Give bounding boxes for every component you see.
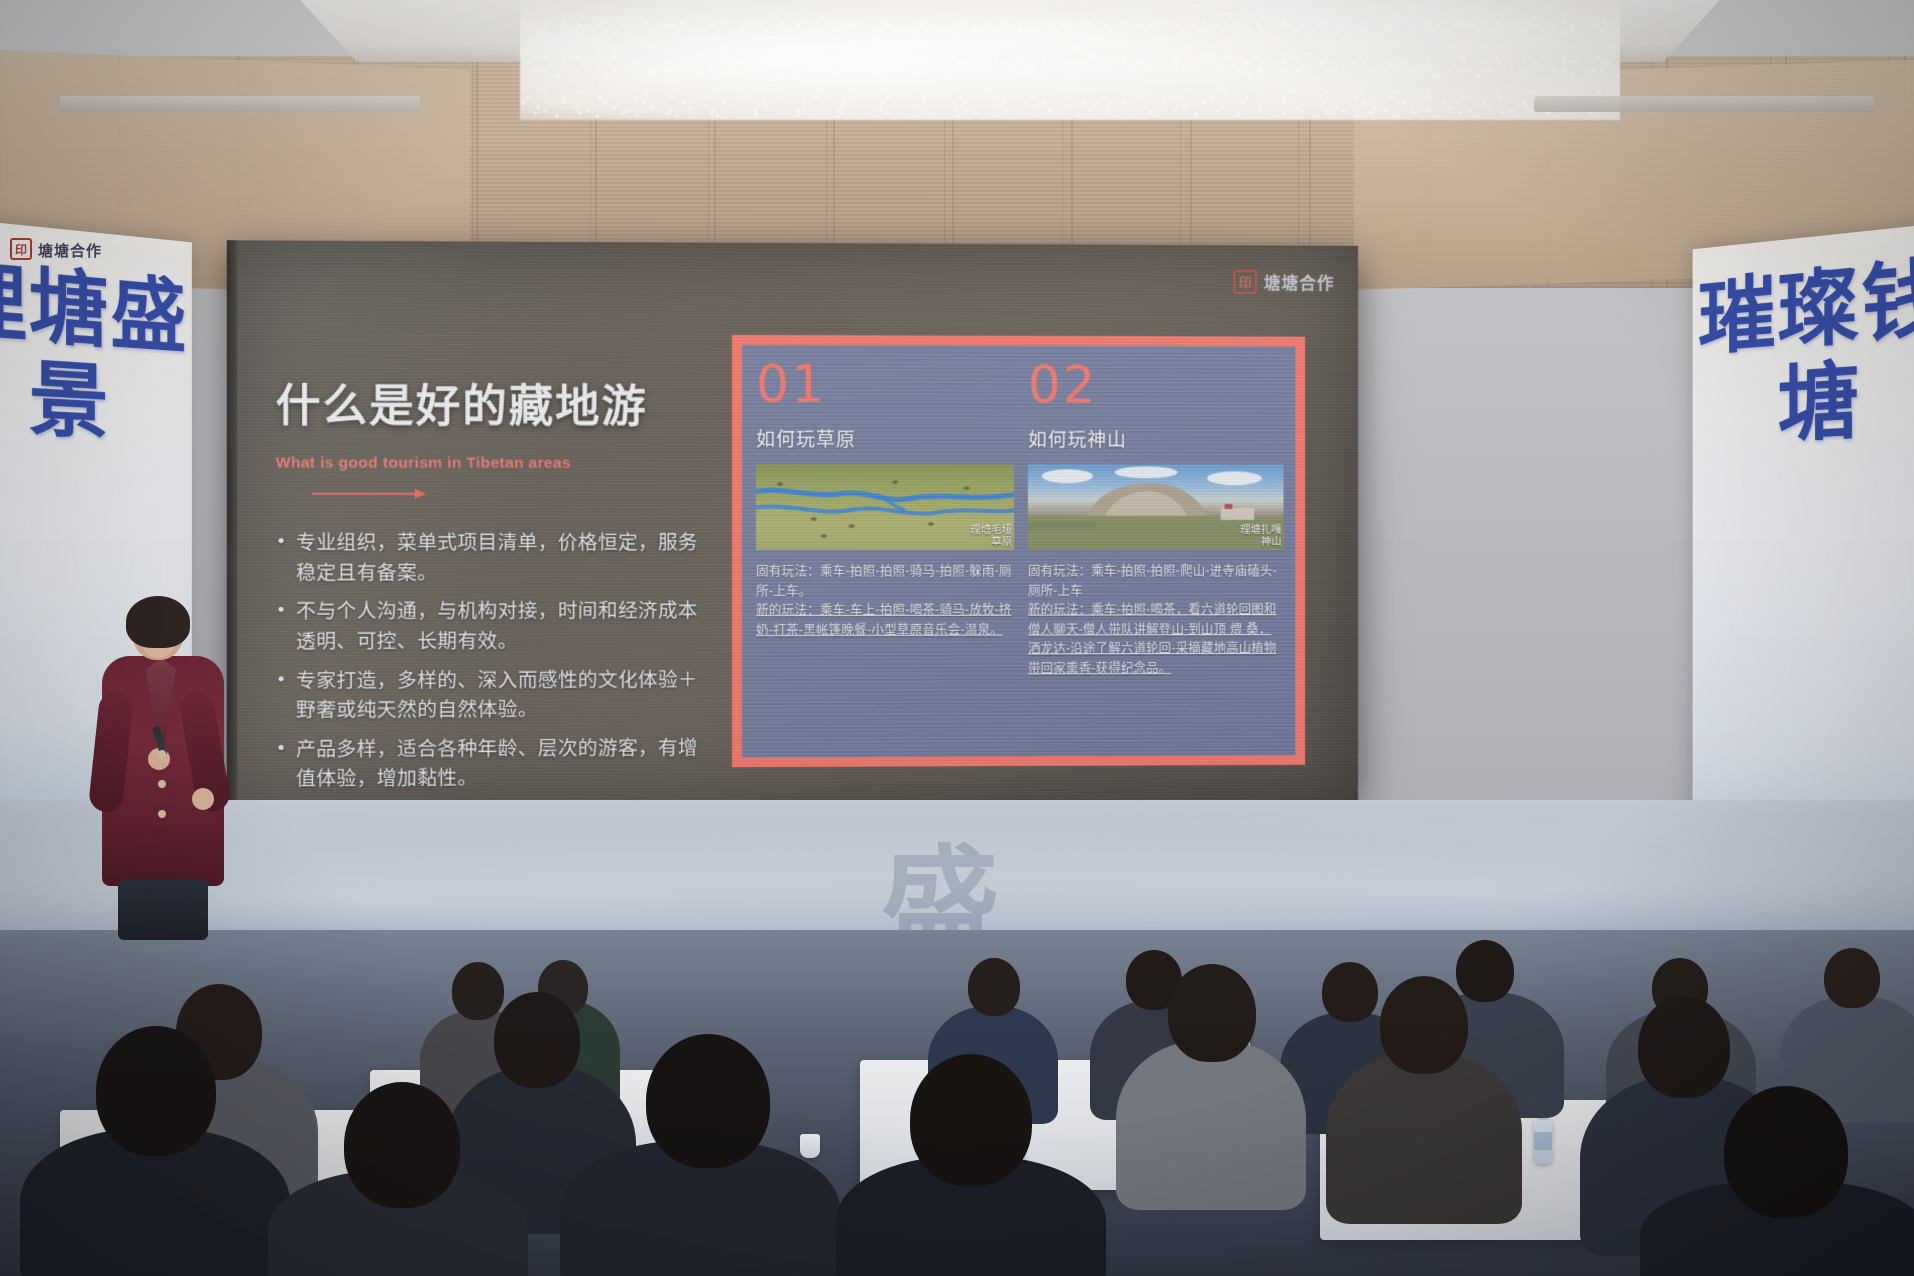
audience-head [1724,1086,1848,1218]
list-item: 产品多样，适合各种年龄、层次的游客，有增值体验，增加黏性。 [276,734,710,795]
water-bottle [1534,1118,1552,1164]
banner-left-seal-icon: 印 [10,238,32,260]
audience-head [1322,962,1378,1022]
card-heading-02: 如何玩神山 [1028,425,1284,452]
existing-play-label-02: 固有玩法： [1028,564,1091,578]
audience-head [1638,996,1730,1098]
card-heading-01: 如何玩草原 [756,425,1014,452]
presenter [96,600,236,930]
audience-head [910,1054,1032,1186]
existing-play-label-01: 固有玩法： [756,564,820,578]
new-play-01: 新的玩法：乘车-车上-拍照-喝茶-骑马-放牧-挤奶-打茶-黑帐篷晚餐-小型草原音… [756,601,1014,640]
card-column-01: 01 如何玩草原 [756,359,1014,747]
slide-bullet-list: 专业组织，菜单式项目清单，价格恒定，服务稳定且有备案。 不与个人沟通，与机构对接… [276,529,710,795]
slide-logo: 印 塘塘合作 [1233,269,1334,294]
presenter-right-hand [192,788,214,810]
audience-head [1824,948,1880,1008]
audience-member [1116,1040,1306,1210]
slide-left-column: 什么是好的藏地游 What is good tourism in Tibetan… [276,370,710,805]
slide-subtitle: What is good tourism in Tibetan areas [276,454,710,473]
banner-right-text: 璀璨钱塘 [1693,249,1914,456]
slide-seal-glyph: 印 [1239,272,1252,291]
presenter-button-3 [158,810,166,818]
list-item: 专家打造，多样的、深入而感性的文化体验＋野奢或纯天然的自然体验。 [276,666,710,727]
card-number-01: 01 [756,359,1014,412]
card-column-02: 02 如何玩神山 [1028,360,1284,746]
presentation-screen: 印 塘塘合作 什么是好的藏地游 What is good tourism in … [227,240,1358,806]
audience-head [968,958,1020,1016]
new-play-02: 新的玩法：乘车-拍照-喝茶，看六道轮回图和僧人聊天-僧人带队讲解登山-到山顶 煨… [1028,600,1284,678]
presenter-hair [126,596,190,648]
tea-cup [800,1134,820,1158]
presenter-button-1 [158,750,166,758]
ceiling-bar-left [60,96,420,112]
grassland-photo-caption: 理塘毛垭草原 [960,524,1012,548]
banner-left-text: 理塘盛景 [0,252,192,453]
new-play-label-02: 新的玩法： [1028,603,1091,617]
crystal-ceiling-installation [520,0,1620,120]
slide-seal-icon: 印 [1233,269,1257,293]
audience-head [646,1034,770,1168]
ceiling-bar-right [1534,96,1874,112]
audience-head [344,1082,460,1208]
list-item: 不与个人沟通，与机构对接，时间和经济成本透明、可控、长期有效。 [276,597,710,657]
mountain-photo-caption: 理塘扎嘎神山 [1230,524,1281,548]
audience-head [1456,940,1514,1002]
presenter-lower-body [118,880,208,940]
audience-member [1326,1052,1522,1224]
audience-head [1380,976,1468,1074]
grassland-photo: 理塘毛垭草原 [756,464,1014,550]
new-play-label-01: 新的玩法： [756,603,820,617]
card-body-02: 固有玩法：乘车-拍照-拍照-爬山-进寺庙磕头-厕所-上车 新的玩法：乘车-拍照-… [1028,562,1284,679]
list-item: 专业组织，菜单式项目清单，价格恒定，服务稳定且有备案。 [276,529,710,589]
audience-head [96,1026,216,1156]
conference-hall-scene: 理塘盛景 印 塘塘合作 璀璨钱塘 印 塘塘合作 什么是好的藏地游 What is… [0,0,1914,1276]
audience-head [452,962,504,1020]
audience-head [494,992,580,1088]
sacred-mountain-photo: 理塘扎嘎神山 [1028,464,1284,550]
presenter-button-2 [158,780,166,788]
card-body-01: 固有玩法：乘车-拍照-拍照-骑马-拍照-躲雨-厕所-上车。 新的玩法：乘车-车上… [756,562,1014,640]
banner-left-logo-text: 塘塘合作 [38,240,102,261]
card-number-02: 02 [1028,360,1284,412]
slide-logo-text: 塘塘合作 [1264,269,1335,294]
audience-head [1168,964,1256,1062]
seal-glyph: 印 [15,241,27,258]
arrow-right-icon [312,493,424,495]
slide-highlight-card: 01 如何玩草原 [732,335,1305,767]
slide-title: 什么是好的藏地游 [276,370,710,435]
